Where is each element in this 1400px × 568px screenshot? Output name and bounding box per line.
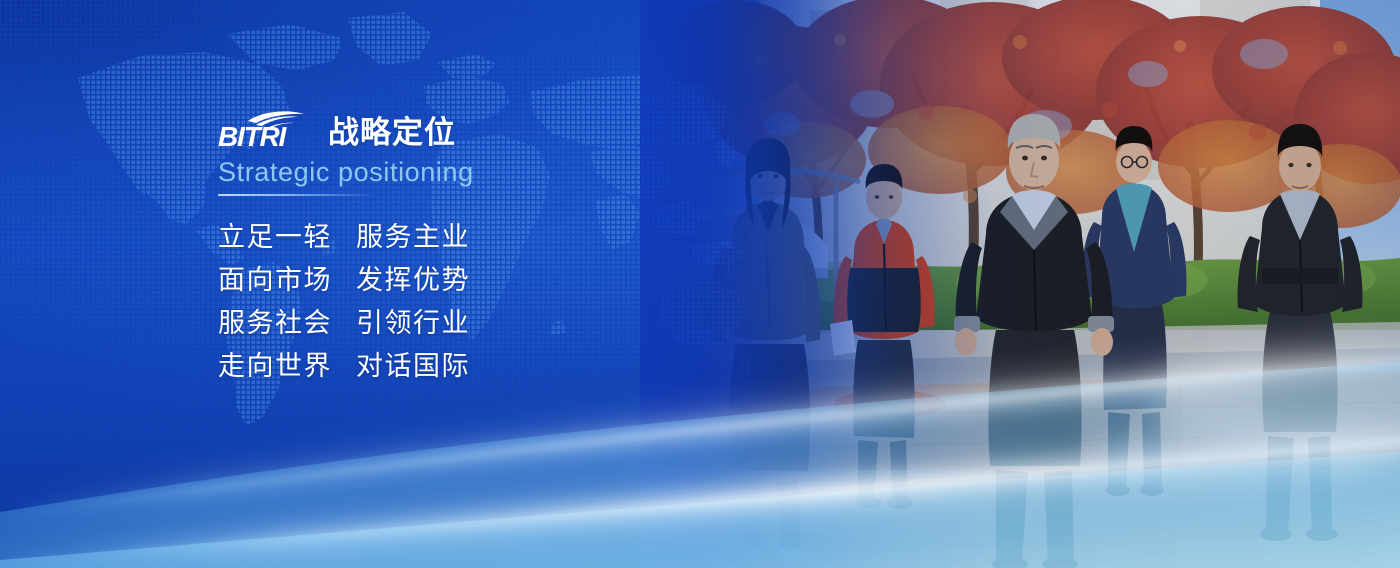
slogan-row: 立足一轻 服务主业	[218, 216, 778, 259]
headline-chinese: 战略定位	[328, 116, 456, 150]
slogan-row: 面向市场 发挥优势	[218, 259, 778, 302]
slogan-left: 面向市场	[218, 259, 356, 302]
strategic-positioning-banner: BITRI 战略定位 Strategic positioning 立足一轻 服务…	[0, 0, 1400, 568]
slogan-row: 走向世界 对话国际	[218, 345, 778, 388]
slogan-right: 引领行业	[356, 302, 470, 345]
brand-lockup: BITRI 战略定位	[218, 108, 778, 150]
bitri-logo: BITRI	[218, 110, 314, 150]
bitri-wordmark: BITRI	[218, 121, 288, 150]
slogan-right: 服务主业	[356, 216, 470, 259]
slogan-left: 立足一轻	[218, 216, 356, 259]
headline-english: Strategic positioning	[218, 156, 778, 188]
slogan-left: 服务社会	[218, 302, 356, 345]
title-divider	[218, 194, 378, 196]
slogan-left: 走向世界	[218, 345, 356, 388]
slogan-list: 立足一轻 服务主业 面向市场 发挥优势 服务社会 引领行业 走向世界 对话国际	[218, 216, 778, 388]
slogan-right: 对话国际	[356, 345, 470, 388]
slogan-row: 服务社会 引领行业	[218, 302, 778, 345]
slogan-right: 发挥优势	[356, 259, 470, 302]
banner-content: BITRI 战略定位 Strategic positioning 立足一轻 服务…	[218, 108, 778, 388]
